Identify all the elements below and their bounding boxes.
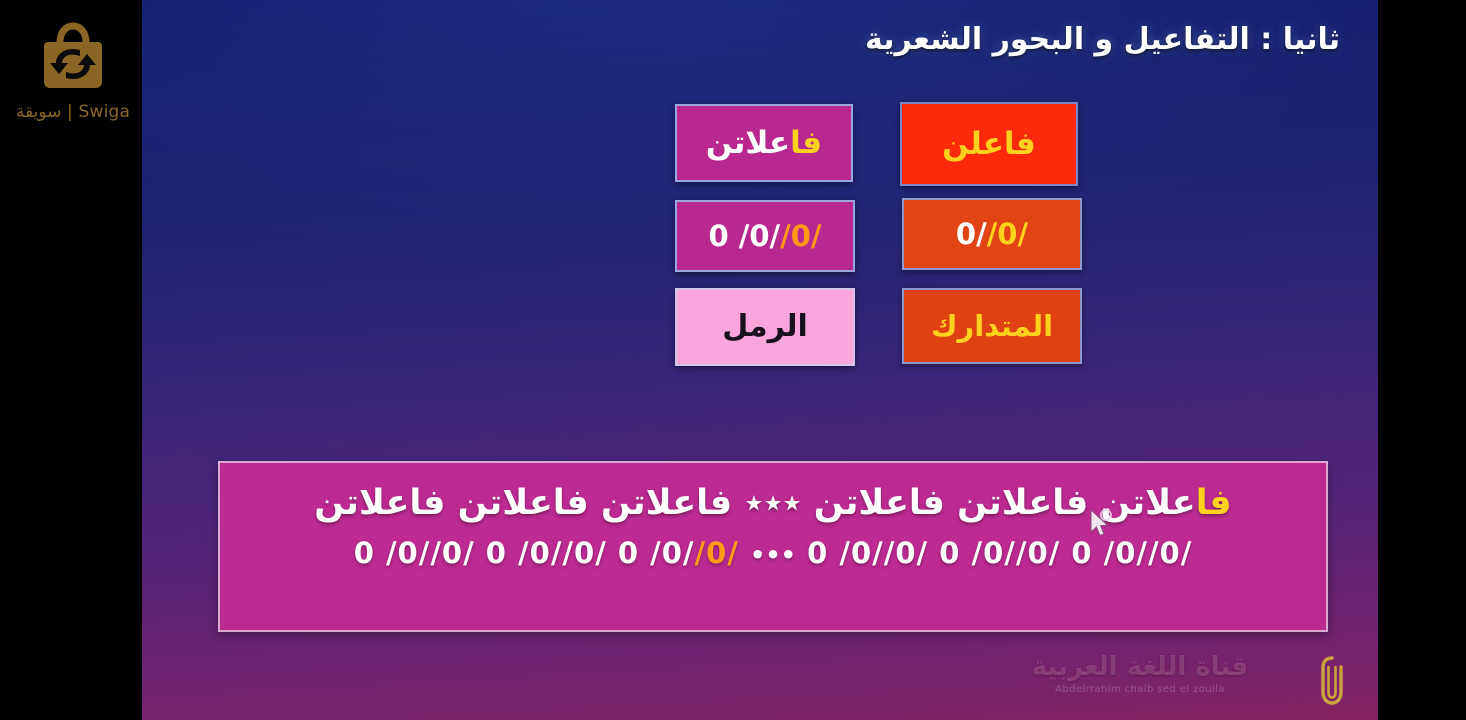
taqti3-mutadarik-accent: /0/	[987, 217, 1028, 251]
box-taqti3-ramal[interactable]: 0 /0//0/	[675, 200, 855, 272]
ramal-label: الرمل	[722, 312, 808, 342]
fa3elon-label: فاعلن	[942, 129, 1036, 160]
prosody-banner: فاعلاتن فاعلاتن فاعلاتن ٭٭٭ فاعلاتن فاعل…	[218, 461, 1328, 632]
letterbox-bar-right	[1378, 0, 1466, 720]
channel-watermark-title: قناة اللغة العربية	[1020, 652, 1260, 682]
banner-taqti3-line: 0 /0//0/ 0 /0//0/ 0 /0//0/ ••• 0 /0//0/ …	[354, 536, 1193, 570]
banner-line2-accent: /0/	[695, 536, 739, 570]
swiga-wordmark: Swiga | سويقة	[16, 102, 130, 122]
banner-accent-prefix: فا	[1196, 483, 1232, 523]
page-title: ثانيا : التفاعيل و البحور الشعرية	[865, 22, 1340, 57]
mutadarik-label: المتدارك	[931, 312, 1053, 341]
fa3elaton-accent: فا	[790, 125, 822, 161]
box-fa3elon[interactable]: فاعلن	[900, 102, 1078, 186]
banner-line1-tail: فاعلاتن فاعلاتن فاعلاتن	[314, 483, 732, 523]
box-fa3elaton[interactable]: فاعلاتن	[675, 104, 853, 182]
swiga-logo: Swiga | سويقة	[14, 20, 132, 140]
banner-line2-dots: •••	[750, 541, 796, 569]
banner-line2-right: 0 /0//0/ 0 /0//0/ 0 /0//0/	[807, 536, 1192, 570]
taqti3-mutadarik-lead: 0/	[956, 217, 987, 251]
paperclip-icon[interactable]	[1314, 652, 1350, 710]
banner-line2-left: 0 /0//0/ 0 /0//0/ 0 /0/	[354, 536, 695, 570]
shopping-bag-refresh-icon	[36, 20, 110, 94]
box-taqti3-mutadarik[interactable]: 0//0/	[902, 198, 1082, 270]
banner-line1-separator: ٭٭٭	[744, 483, 801, 523]
taqti3-ramal-accent: /0/	[780, 219, 821, 253]
box-ramal[interactable]: الرمل	[675, 288, 855, 366]
box-mutadarik[interactable]: المتدارك	[902, 288, 1082, 364]
banner-line1-rest: علاتن فاعلاتن فاعلاتن	[814, 483, 1196, 523]
channel-watermark-subtitle: Abdelrrahim chaib sed el zouila	[1020, 684, 1260, 695]
video-player-stage: ثانيا : التفاعيل و البحور الشعرية فاعلات…	[0, 0, 1466, 720]
fa3elaton-rest: علاتن	[706, 125, 790, 161]
channel-watermark: قناة اللغة العربية Abdelrrahim chaib sed…	[1020, 652, 1260, 712]
banner-tafeela-line: فاعلاتن فاعلاتن فاعلاتن ٭٭٭ فاعلاتن فاعل…	[314, 483, 1231, 523]
taqti3-ramal-lead: 0 /0/	[709, 219, 781, 253]
